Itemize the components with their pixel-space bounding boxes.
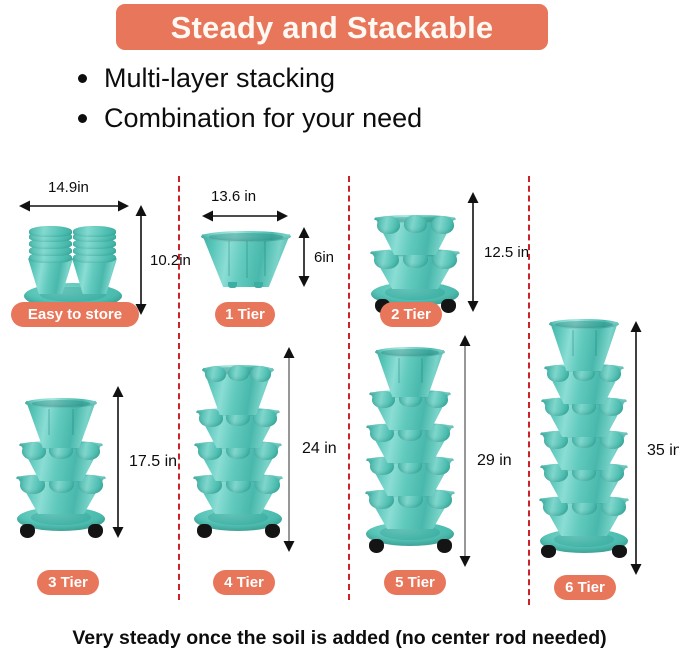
badge-6-tier: 6 Tier [554,575,616,600]
badge-2-tier: 2 Tier [380,302,442,327]
product-6-tier: 35 in [528,333,679,605]
caster-wheel-icon [541,545,556,558]
planter-stack-graphic [190,348,286,538]
planter-tier [26,398,96,448]
planter-stack-graphic [367,193,463,313]
page-title: Steady and Stackable [171,12,494,43]
nested-pot-bundle-right [72,226,117,292]
planter-tier [375,215,455,255]
height-dimension-arrow [111,386,125,538]
height-dimension-arrow [466,192,480,312]
planter-stack-graphic [202,225,290,287]
planter-tier [203,365,273,415]
badge-5-tier: 5 Tier [384,570,446,595]
list-item: Multi-layer stacking [78,60,638,96]
badge-4-tier-label: 4 Tier [213,570,275,595]
footer-caption: Very steady once the soil is added (no c… [0,629,679,649]
bullet-label: Multi-layer stacking [104,65,335,92]
product-2-tier: 12.5 in 2 Tier [348,176,528,328]
caster-wheel-icon [20,524,35,538]
product-4-tier: 24 in [178,333,348,600]
feature-bullet-list: Multi-layer stacking Combination for you… [78,60,638,140]
height-dimension-label: 29 in [477,453,512,469]
badge-1-tier: 1 Tier [215,302,275,327]
list-item: Combination for your need [78,100,638,136]
height-dimension-label: 6in [314,250,334,265]
header-banner: Steady and Stackable [116,4,548,50]
product-5-tier: 29 in [348,333,528,600]
caster-wheel-icon [197,524,212,538]
height-dimension-label: 24 in [302,441,337,457]
height-dimension-label: 17.5 in [129,454,177,470]
planter-tier [202,231,290,287]
bullet-dot-icon [78,74,87,83]
height-dimension-arrow [297,227,311,287]
badge-easy-to-store: Easy to store [11,302,139,327]
planter-tier [550,319,618,371]
height-dimension-arrow [458,335,472,567]
caster-wheel-icon [612,545,627,558]
nested-pot-bundle-left [28,226,73,292]
width-dimension-label: 13.6 in [211,189,256,204]
caster-wheel-icon [437,539,452,553]
planter-stack-graphic [13,388,109,538]
planter-tier [371,249,459,289]
width-dimension-label: 14.9in [48,180,89,195]
height-dimension-label: 12.5 in [484,245,529,260]
product-1-tier: 13.6 in 6in 1 Tier [178,176,348,328]
planter-tier [376,347,444,397]
height-dimension-label: 35 in [647,443,679,459]
planter-stack-graphic [362,328,458,553]
caster-wheel-icon [88,524,103,538]
planter-stack-graphic [18,206,128,316]
caster-wheel-icon [265,524,280,538]
bullet-label: Combination for your need [104,105,422,132]
badge-3-tier: 3 Tier [37,570,99,595]
caster-wheel-icon [441,299,456,313]
height-dimension-arrow [134,205,148,315]
product-3-tier: 17.5 in 3 Tie [0,333,178,600]
planter-stack-graphic [536,303,632,558]
caster-wheel-icon [369,539,384,553]
bullet-dot-icon [78,114,87,123]
product-easy-to-store: 14.9in 10.2in [0,176,178,328]
width-dimension-arrow [202,209,288,223]
